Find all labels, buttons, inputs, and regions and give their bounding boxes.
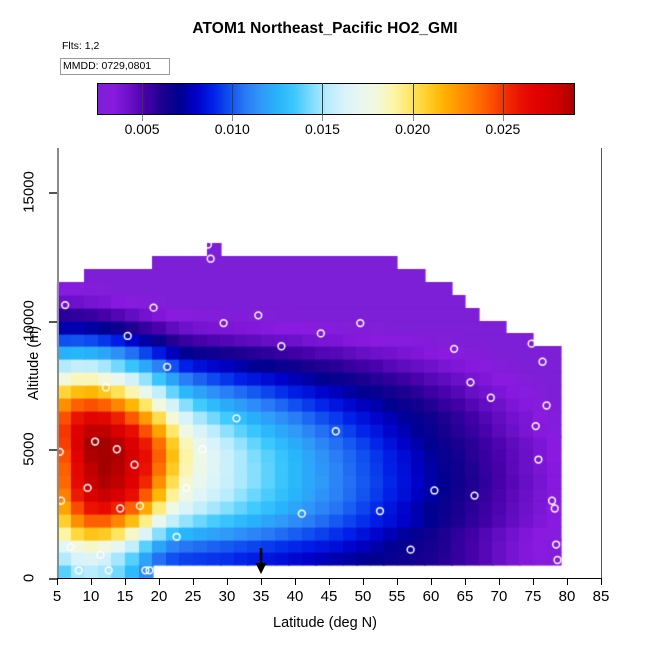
y-axis-tick [49, 578, 57, 580]
x-axis-tick [533, 578, 534, 585]
x-axis-tick [227, 578, 228, 585]
x-axis-tick [329, 578, 330, 585]
chart-root: ATOM1 Northeast_Pacific HO2_GMI Flts: 1,… [0, 0, 650, 650]
x-axis-tick [431, 578, 432, 585]
y-axis-tick-label: 5000 [21, 433, 38, 466]
x-axis-tick-label: 85 [581, 588, 621, 605]
x-axis-tick [295, 578, 296, 585]
y-axis-tick [49, 192, 57, 194]
x-axis-tick [465, 578, 466, 585]
x-axis-tick [261, 578, 262, 585]
y-axis-label: Altitude (m) [26, 293, 42, 433]
x-axis-tick [125, 578, 126, 585]
y-axis-line [57, 148, 59, 579]
heatmap-canvas [0, 0, 650, 650]
x-axis-tick [397, 578, 398, 585]
x-axis-tick [601, 578, 602, 585]
x-axis-tick [91, 578, 92, 585]
x-axis-tick [57, 578, 58, 585]
x-axis-tick [567, 578, 568, 585]
x-axis-tick [159, 578, 160, 585]
x-axis-tick [363, 578, 364, 585]
x-axis-label: Latitude (deg N) [0, 615, 650, 631]
x-axis-tick [499, 578, 500, 585]
y-axis-tick [49, 321, 57, 323]
y-axis-tick-label: 0 [21, 574, 38, 582]
y-axis-tick-label: 15000 [21, 171, 38, 213]
x-axis-tick [193, 578, 194, 585]
plot-right-frame [601, 148, 602, 579]
y-axis-tick [49, 449, 57, 451]
latitude-marker-arrow [254, 548, 268, 574]
